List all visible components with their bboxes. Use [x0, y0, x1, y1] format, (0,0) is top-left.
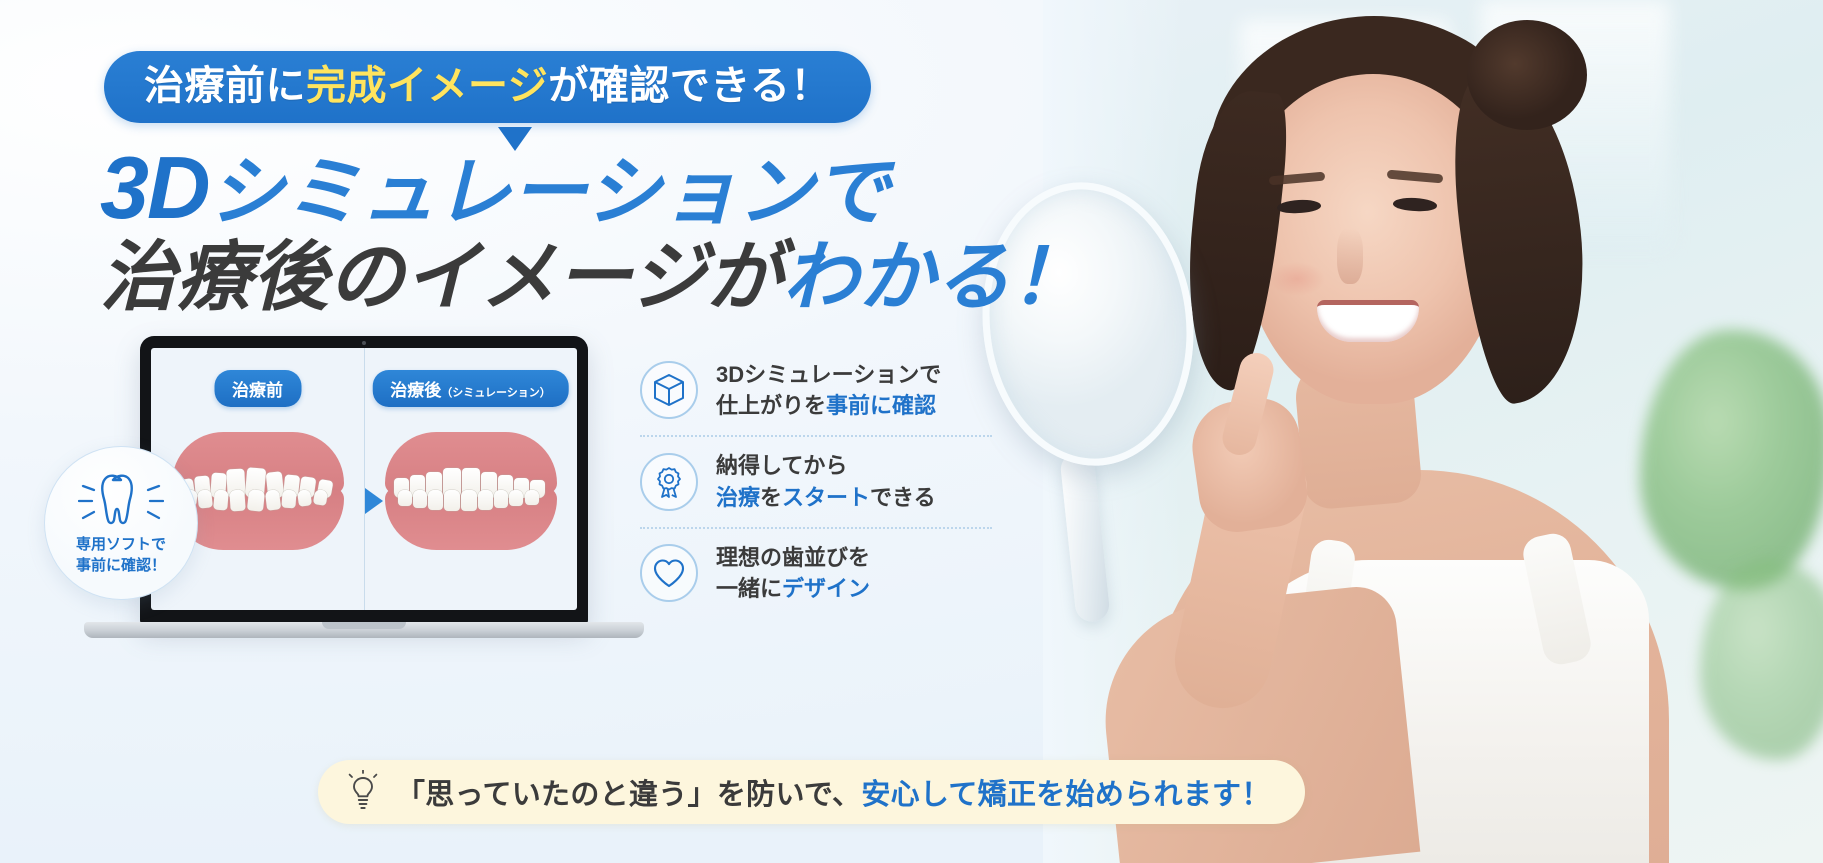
teeth-row-lower	[385, 490, 557, 530]
laptop-lid: 治療前	[140, 336, 588, 626]
headline-line2-dark: 治療後のイメージが	[100, 235, 782, 320]
list-item: 理想の歯並びを 一緒にデザイン	[640, 527, 992, 618]
award-ribbon-icon	[652, 465, 686, 499]
feature-icon-wrapper	[640, 453, 698, 511]
lightbulb-icon	[346, 770, 380, 814]
badge-suffix: が確認できる！	[548, 64, 831, 108]
feature-line2-plain: を	[760, 485, 782, 510]
feature-icon-wrapper	[640, 361, 698, 419]
hand-mirror-handle	[1059, 451, 1111, 624]
model-smile	[1317, 300, 1419, 342]
headline-simulation: シミュレーション	[209, 150, 814, 235]
feature-line2-accent: 事前に確認	[826, 393, 936, 418]
arrow-right-icon	[365, 488, 383, 514]
tooth-sparkle-icon	[78, 470, 164, 532]
headline-3d: 3D	[100, 138, 209, 237]
hero-banner: 治療前に完成イメージが確認できる！ 3Dシミュレーションで 治療後のイメージがわ…	[0, 0, 1823, 863]
headline-line1-tail: で	[813, 150, 889, 235]
model-nose	[1337, 228, 1363, 284]
badge-prefix: 治療前に	[144, 64, 306, 108]
feature-text: 納得してから 治療をスタートできる	[716, 450, 936, 512]
feature-line2-accent1: 治療	[716, 485, 760, 510]
teeth-after	[385, 432, 557, 548]
after-label-text: 治療後	[390, 381, 441, 400]
list-item: 納得してから 治療をスタートできる	[640, 435, 992, 526]
banner-text-accent: 安心して矯正を始められます！	[861, 779, 1270, 811]
feature-line2-accent2: スタート	[782, 485, 870, 510]
feature-line1: 理想の歯並びを	[716, 542, 870, 573]
feature-list: 3Dシミュレーションで 仕上がりを事前に確認 納得してから 治療をスタートできる	[640, 346, 992, 618]
laptop-camera-icon	[362, 341, 366, 345]
software-callout-line1: 専用ソフトで	[76, 535, 166, 555]
feature-icon-wrapper	[640, 544, 698, 602]
top-callout-badge: 治療前に完成イメージが確認できる！	[104, 51, 871, 123]
feature-line2-accent: デザイン	[782, 576, 870, 601]
model-hair-bun	[1467, 20, 1587, 130]
feature-line1: 納得してから	[716, 450, 936, 481]
feature-line2-plain: 仕上がりを	[716, 393, 826, 418]
feature-text: 3Dシミュレーションで 仕上がりを事前に確認	[716, 359, 941, 421]
feature-line2-plain: 一緒に	[716, 576, 782, 601]
feature-line2-tail: できる	[870, 485, 936, 510]
screen-panel-after: 治療後（シミュレーション）	[364, 348, 577, 610]
model-cheek	[1269, 262, 1325, 296]
before-label-badge: 治療前	[214, 370, 301, 407]
headline-line2-blue: わかる！	[782, 235, 1086, 320]
laptop-screen: 治療前	[151, 348, 577, 610]
laptop-base-notch	[322, 622, 406, 629]
heart-icon	[652, 557, 686, 589]
status-banner: 「思っていたのと違う」を防いで、安心して矯正を始められます！	[318, 760, 1305, 824]
before-label-text: 治療前	[232, 381, 283, 400]
feature-line1: 3Dシミュレーションで	[716, 359, 941, 390]
feature-text: 理想の歯並びを 一緒にデザイン	[716, 542, 870, 604]
model-photo	[1063, 0, 1823, 863]
after-label-sub: （シミュレーション）	[441, 387, 551, 399]
badge-highlight: 完成イメージ	[306, 64, 548, 108]
banner-text: 「思っていたのと違う」を防いで、安心して矯正を始められます！	[396, 771, 1271, 813]
cube-3d-icon	[652, 373, 686, 407]
software-callout-line2: 事前に確認！	[76, 556, 166, 576]
software-callout-badge: 専用ソフトで 事前に確認！	[44, 446, 198, 600]
list-item: 3Dシミュレーションで 仕上がりを事前に確認	[640, 346, 992, 435]
after-label-badge: 治療後（シミュレーション）	[372, 370, 569, 407]
banner-text-plain: 「思っていたのと違う」を防いで、	[396, 779, 861, 811]
page-title: 3Dシミュレーションで 治療後のイメージがわかる！	[100, 142, 1086, 318]
